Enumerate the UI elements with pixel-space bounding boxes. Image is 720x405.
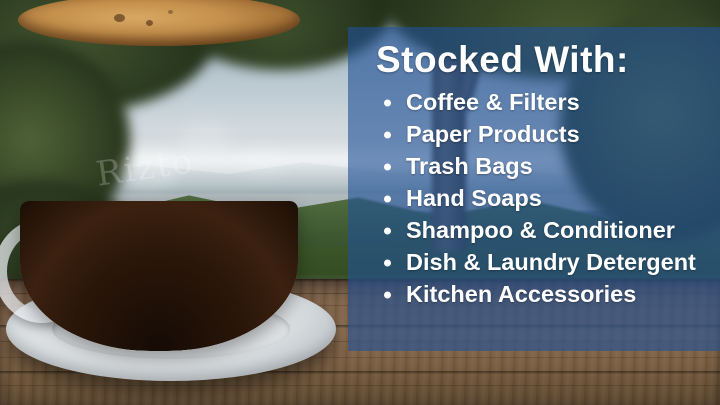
list-item-label: Coffee & Filters bbox=[406, 89, 580, 115]
list-item: Trash Bags bbox=[380, 151, 706, 183]
steam-wisp bbox=[240, 148, 286, 178]
list-item: Paper Products bbox=[380, 119, 706, 151]
bullet-dot-icon bbox=[384, 131, 391, 138]
wood-grain bbox=[0, 385, 720, 386]
bullet-dot-icon bbox=[384, 291, 391, 298]
panel-title: Stocked With: bbox=[376, 39, 706, 81]
bullet-dot-icon bbox=[384, 195, 391, 202]
slide-canvas: Rizto Stocked With: Coffee & Filters Pap… bbox=[0, 0, 720, 405]
bullet-dot-icon bbox=[384, 227, 391, 234]
bullet-dot-icon bbox=[384, 259, 391, 266]
list-item-label: Hand Soaps bbox=[406, 185, 542, 211]
list-item-label: Trash Bags bbox=[406, 153, 533, 179]
list-item: Hand Soaps bbox=[380, 183, 706, 215]
list-item-label: Paper Products bbox=[406, 121, 580, 147]
crema-speck bbox=[114, 14, 125, 22]
bullet-dot-icon bbox=[384, 99, 391, 106]
list-item-label: Dish & Laundry Detergent bbox=[406, 249, 696, 275]
list-item-label: Kitchen Accessories bbox=[406, 281, 636, 307]
stocked-with-panel: Stocked With: Coffee & Filters Paper Pro… bbox=[348, 27, 720, 351]
crema-speck bbox=[168, 10, 173, 14]
list-item-label: Shampoo & Conditioner bbox=[406, 217, 675, 243]
stocked-items-list: Coffee & Filters Paper Products Trash Ba… bbox=[366, 87, 706, 311]
list-item: Kitchen Accessories bbox=[380, 279, 706, 311]
list-item: Shampoo & Conditioner bbox=[380, 215, 706, 247]
bullet-dot-icon bbox=[384, 163, 391, 170]
list-item: Dish & Laundry Detergent bbox=[380, 247, 706, 279]
list-item: Coffee & Filters bbox=[380, 87, 706, 119]
crema-speck bbox=[146, 20, 153, 26]
